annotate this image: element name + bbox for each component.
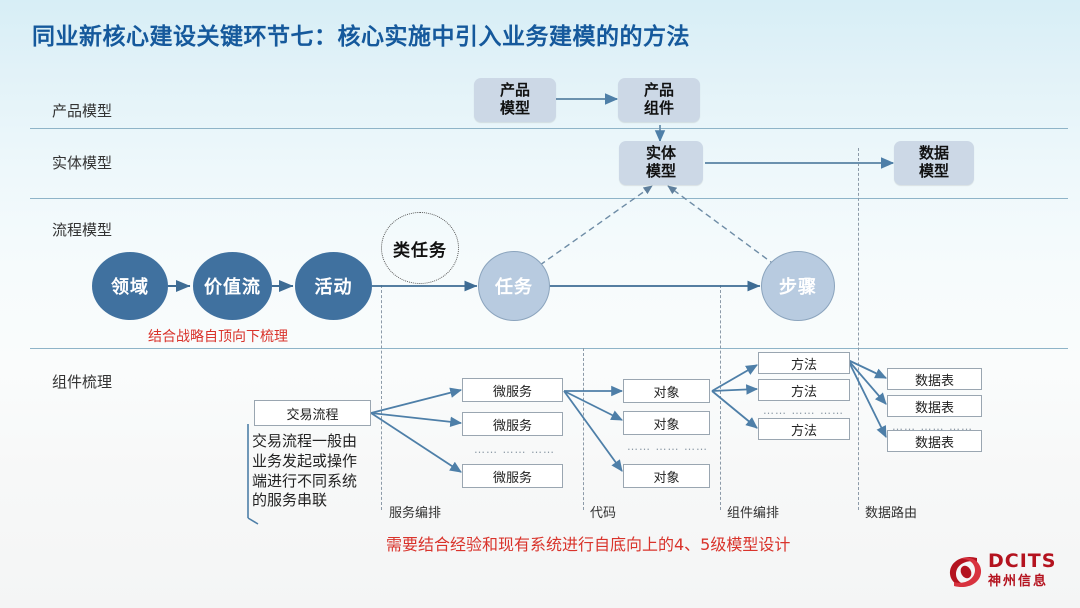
box-entity-model-line2: 模型 [646,163,676,181]
note-transaction-flow: 交易流程一般由业务发起或操作端进行不同系统的服务串联 [252,432,367,511]
box-method-2[interactable]: 方法 [758,379,850,401]
logo-dcits: DCITS 神州信息 [944,550,1062,596]
logo-text: DCITS 神州信息 [988,552,1056,588]
divider-entity-process [30,198,1068,199]
ellipsis-methods: …… …… …… [763,404,844,417]
node-domain[interactable]: 领域 [92,252,168,320]
node-step[interactable]: 步骤 [761,251,835,321]
row-label-entity-model: 实体模型 [52,152,112,173]
column-label-data-routing: 数据路由 [865,502,917,521]
page-title: 同业新核心建设关键环节七：核心实施中引入业务建模的的方法 [32,17,690,51]
box-microservice-2[interactable]: 微服务 [462,412,563,436]
column-separator-3 [720,285,721,510]
box-data-model-line2: 模型 [919,163,949,181]
box-object-3[interactable]: 对象 [623,464,710,488]
box-data-table-2[interactable]: 数据表 [887,395,982,417]
column-label-component-orchestration: 组件编排 [727,502,779,521]
row-label-component-inventory: 组件梳理 [52,371,112,392]
node-activity[interactable]: 活动 [295,252,372,320]
node-task[interactable]: 任务 [478,251,550,321]
node-task-class[interactable]: 类任务 [381,212,459,284]
annotation-top-down: 结合战略自顶向下梳理 [148,326,288,346]
column-label-code: 代码 [590,502,616,521]
box-entity-model[interactable]: 实体 模型 [619,141,703,185]
box-product-model[interactable]: 产品 模型 [474,78,556,122]
box-entity-model-line1: 实体 [646,145,676,163]
column-separator-2 [583,348,584,510]
box-product-component-line1: 产品 [644,82,674,100]
node-value-stream[interactable]: 价值流 [193,252,272,320]
ellipsis-microservices: …… …… …… [474,443,555,456]
box-data-table-1[interactable]: 数据表 [887,368,982,390]
box-product-component-line2: 组件 [644,100,674,118]
column-separator-1 [381,285,382,510]
box-object-1[interactable]: 对象 [623,379,710,403]
box-product-model-line2: 模型 [500,100,530,118]
box-microservice-1[interactable]: 微服务 [462,378,563,402]
divider-product-entity [30,128,1068,129]
logo-text-en: DCITS [988,552,1056,571]
box-transaction-flow[interactable]: 交易流程 [254,400,371,426]
box-data-table-3[interactable]: 数据表 [887,430,982,452]
ellipsis-objects: …… …… …… [627,440,708,453]
box-data-model-line1: 数据 [919,145,949,163]
column-separator-4 [858,148,859,510]
box-method-1[interactable]: 方法 [758,352,850,374]
annotation-bottom-up: 需要结合经验和现有系统进行自底向上的4、5级模型设计 [386,531,790,555]
slide-canvas: 同业新核心建设关键环节七：核心实施中引入业务建模的的方法 产品模型 实体模型 流… [0,0,1080,608]
divider-process-component [30,348,1068,349]
box-microservice-3[interactable]: 微服务 [462,464,563,488]
row-label-product-model: 产品模型 [52,100,112,121]
box-data-model[interactable]: 数据 模型 [894,141,974,185]
box-product-component[interactable]: 产品 组件 [618,78,700,122]
logo-text-cn: 神州信息 [988,575,1056,588]
logo-mark-icon [944,550,988,594]
box-object-2[interactable]: 对象 [623,411,710,435]
column-label-service-orchestration: 服务编排 [389,502,441,521]
box-method-3[interactable]: 方法 [758,418,850,440]
box-product-model-line1: 产品 [500,82,530,100]
row-label-process-model: 流程模型 [52,219,112,240]
